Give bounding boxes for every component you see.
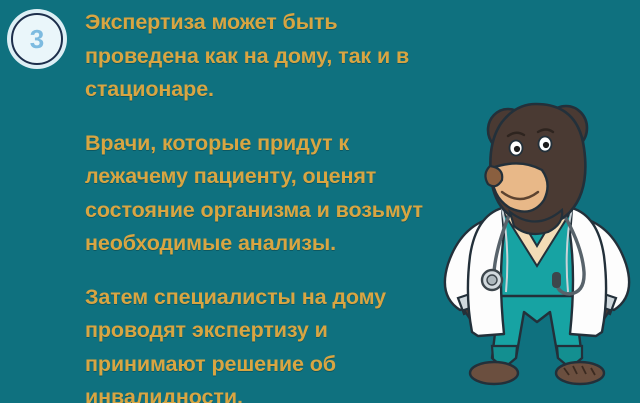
paragraph-1: Экспертиза может быть проведена как на д… [85,6,445,107]
paragraph-3: Затем специалисты на дому проводят экспе… [85,281,445,403]
bear-foot-right [556,362,604,384]
stethoscope-earpiece [552,272,561,288]
bear-nose [485,166,502,186]
bear-doctor-illustration [432,96,640,403]
paragraph-2: Врачи, которые придут к лежачему пациент… [85,127,445,261]
bear-pupil-right [543,142,549,148]
slide-canvas: 3 Экспертиза может быть проведена как на… [0,0,640,403]
badge-number: 3 [30,26,44,52]
content-text-block: Экспертиза может быть проведена как на д… [85,6,445,403]
bear-foot-left [470,362,518,384]
stethoscope-diaphragm [487,275,497,285]
step-number-badge: 3 [7,9,67,69]
bear-pupil-left [514,146,520,152]
